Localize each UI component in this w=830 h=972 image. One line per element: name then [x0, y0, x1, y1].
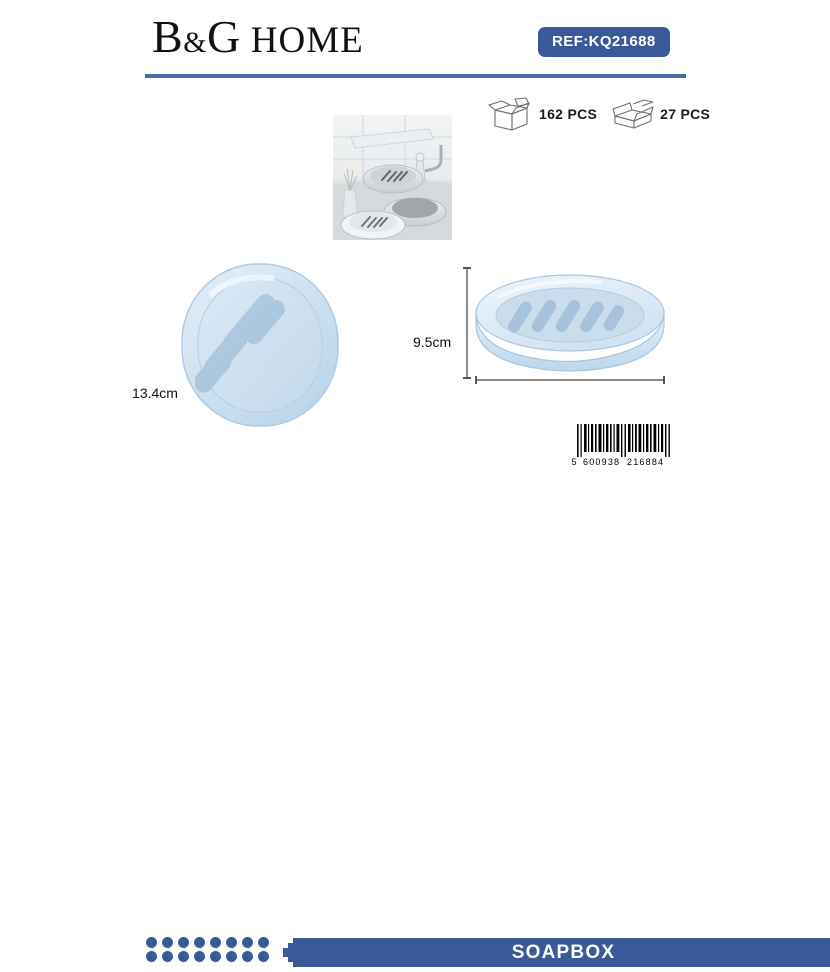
lifestyle-bathroom-photo — [333, 115, 452, 240]
brand-word-home: HOME — [251, 20, 364, 61]
brand-letter-b: B — [152, 11, 183, 62]
brand-letter-g: G — [207, 11, 241, 62]
footer-dot — [226, 951, 237, 962]
packaging-info: 162 PCS 27 PCS — [488, 97, 710, 131]
footer-dot — [178, 951, 189, 962]
product-category-title: SOAPBOX — [297, 938, 830, 967]
footer-dot — [258, 951, 269, 962]
footer-dot — [210, 937, 221, 948]
footer-dot — [242, 951, 253, 962]
footer: SOAPBOX — [0, 467, 830, 500]
footer-dot — [178, 937, 189, 948]
footer-dot — [146, 951, 157, 962]
width-dimension-line — [475, 379, 665, 381]
height-dimension-line — [466, 267, 468, 379]
footer-dot — [226, 937, 237, 948]
footer-dot — [210, 951, 221, 962]
footer-dot — [194, 951, 205, 962]
svg-text:600938: 600938 — [583, 457, 620, 467]
header-divider — [145, 74, 686, 78]
footer-dot — [146, 937, 157, 948]
footer-dot — [194, 937, 205, 948]
footer-dot-pattern — [146, 937, 269, 962]
footer-dot — [162, 951, 173, 962]
inner-box-group: 27 PCS — [611, 97, 710, 131]
footer-dot — [258, 937, 269, 948]
height-dimension-label: 9.5cm — [413, 334, 451, 350]
flat-tray-box-icon — [611, 97, 655, 131]
product-side-image — [470, 268, 670, 376]
footer-dot — [242, 937, 253, 948]
barcode: 5 600938 216884 — [571, 420, 679, 468]
width-dimension-label: 13.4cm — [132, 385, 178, 401]
catalog-page: B&GHOME REF:KQ21688 162 PCS — [0, 0, 830, 500]
brand-ampersand: & — [183, 26, 207, 59]
master-carton-group: 162 PCS — [488, 97, 597, 131]
inner-box-quantity: 27 PCS — [660, 106, 710, 122]
reference-badge: REF:KQ21688 — [538, 27, 670, 57]
master-carton-quantity: 162 PCS — [539, 106, 597, 122]
svg-text:5: 5 — [572, 457, 577, 467]
width-dimension-label-wrap: 13.4cm — [0, 385, 830, 401]
brand-logo: B&GHOME — [152, 14, 364, 66]
open-carton-icon — [488, 97, 534, 131]
product-hero-image — [176, 258, 344, 432]
svg-text:216884: 216884 — [627, 457, 664, 467]
footer-dot — [162, 937, 173, 948]
